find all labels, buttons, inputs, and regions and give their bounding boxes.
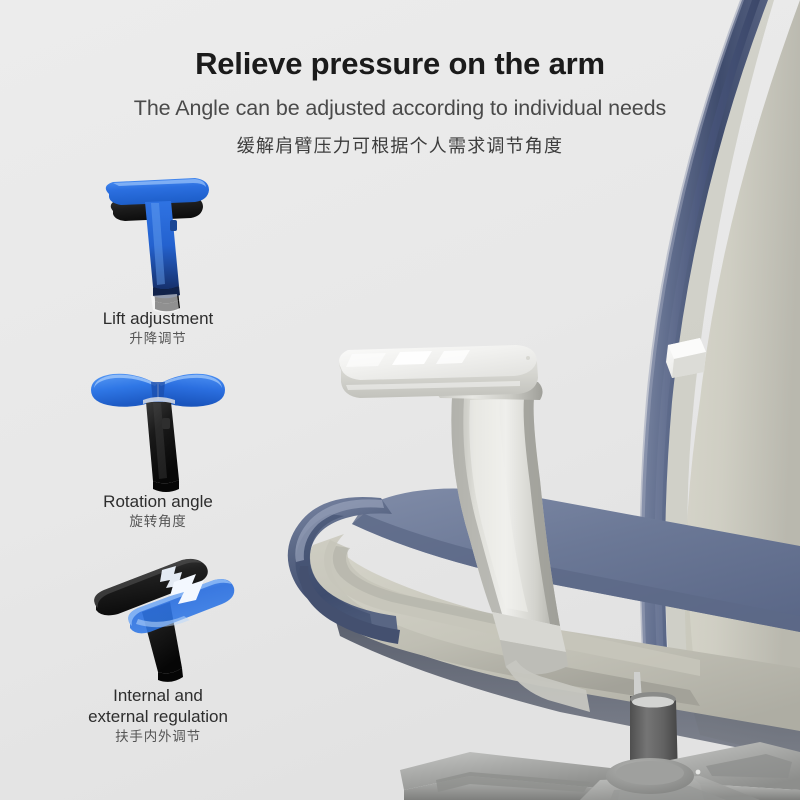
- chair-armrest: [434, 378, 590, 712]
- feature-label-cn: 旋转角度: [38, 512, 278, 531]
- subtitle-chinese: 缓解肩臂压力可根据个人需求调节角度: [0, 137, 800, 155]
- feature-label-cn: 升降调节: [38, 329, 278, 348]
- feature-label-cn: 扶手内外调节: [38, 727, 278, 746]
- armrest-pad: [339, 345, 538, 398]
- chair-base: [400, 672, 800, 800]
- feature-item-rotation[interactable]: Rotation angle 旋转角度: [38, 356, 278, 540]
- header: Relieve pressure on the arm The Angle ca…: [0, 0, 800, 155]
- chair-seat: [288, 488, 800, 760]
- feature-label-en-line2: external regulation: [38, 706, 278, 727]
- feature-list: Lift adjustment 升降调节: [38, 168, 278, 730]
- armrest-slide-icon: [78, 540, 238, 690]
- armrest-rotate-icon: [83, 356, 233, 496]
- product-feature-page: Relieve pressure on the arm The Angle ca…: [0, 0, 800, 800]
- page-title: Relieve pressure on the arm: [0, 48, 800, 79]
- subtitle-english: The Angle can be adjusted according to i…: [0, 98, 800, 120]
- armrest-lift-icon: [83, 168, 233, 318]
- feature-item-slide[interactable]: Internal and external regulation 扶手内外调节: [38, 540, 278, 730]
- feature-item-lift[interactable]: Lift adjustment 升降调节: [38, 168, 278, 356]
